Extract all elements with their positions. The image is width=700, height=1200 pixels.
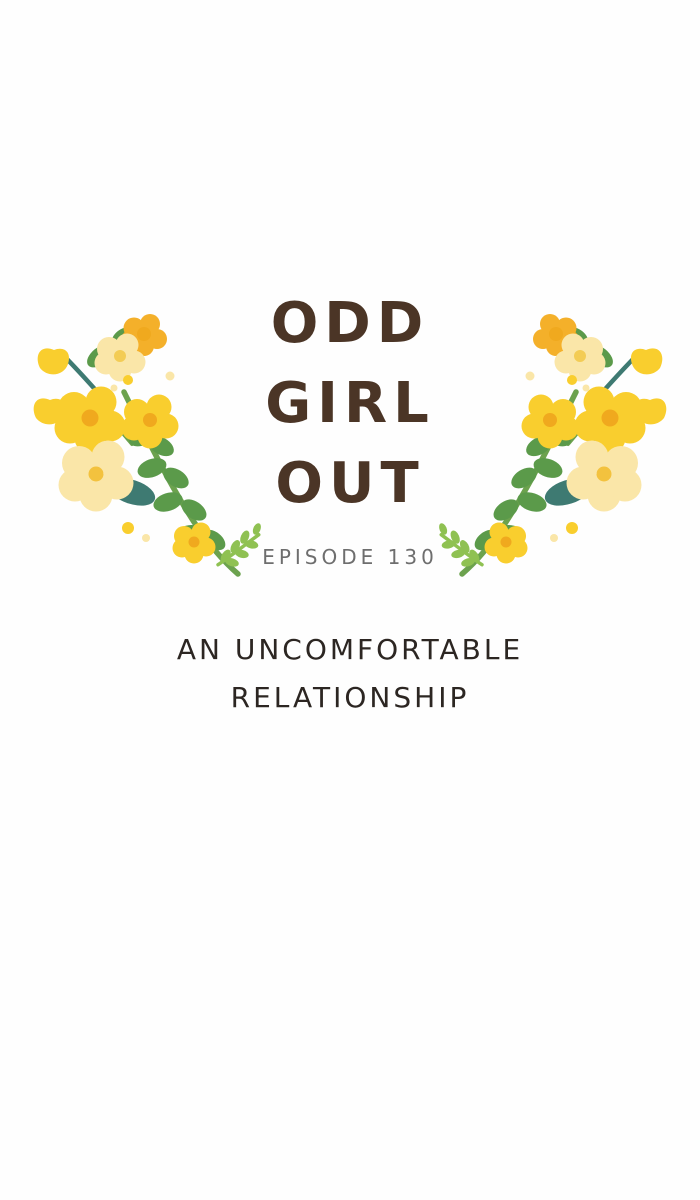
title-line-1: ODD [0, 296, 700, 352]
subtitle-line-2: RELATIONSHIP [0, 684, 700, 712]
episode-subtitle: AN UNCOMFORTABLE RELATIONSHIP [0, 636, 700, 712]
cover-composition: ODD GIRL OUT EPISODE 130 AN UNCOMFORTABL… [0, 0, 700, 760]
subtitle-line-1: AN UNCOMFORTABLE [0, 636, 700, 664]
title-line-3: OUT [0, 456, 700, 512]
episode-number-label: EPISODE 130 [0, 545, 700, 569]
blank-lower-panel [0, 760, 700, 1200]
series-title: ODD GIRL OUT [0, 296, 700, 512]
comic-cover-page: ODD GIRL OUT EPISODE 130 AN UNCOMFORTABL… [0, 0, 700, 1200]
title-line-2: GIRL [0, 376, 700, 432]
